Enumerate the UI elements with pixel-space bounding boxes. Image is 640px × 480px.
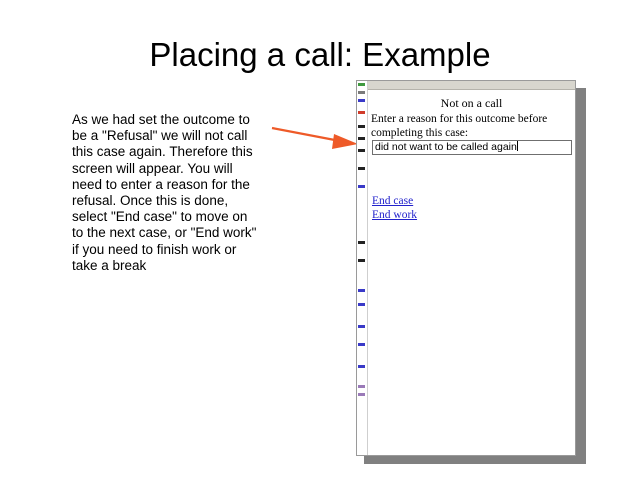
- page-title: Placing a call: Example: [0, 36, 640, 74]
- panel-link-list: End case End work: [372, 194, 417, 222]
- end-case-link[interactable]: End case: [372, 194, 417, 208]
- embedded-app-toolbar: [368, 81, 575, 90]
- slide-body-text: As we had set the outcome to be a "Refus…: [72, 112, 262, 274]
- background-window-sliver: [357, 81, 368, 455]
- reason-input[interactable]: did not want to be called again: [372, 140, 572, 155]
- panel-heading: Not on a call: [368, 96, 575, 111]
- red-arrow-annotation: [268, 120, 364, 152]
- embedded-screenshot-panel: Not on a call Enter a reason for this ou…: [356, 80, 576, 456]
- arrow-icon: [268, 120, 364, 152]
- panel-instruction-text: Enter a reason for this outcome before c…: [371, 113, 576, 140]
- reason-input-value: did not want to be called again: [375, 141, 517, 153]
- embedded-app-content: Not on a call Enter a reason for this ou…: [368, 91, 575, 455]
- text-cursor: [517, 141, 518, 151]
- end-work-link[interactable]: End work: [372, 208, 417, 222]
